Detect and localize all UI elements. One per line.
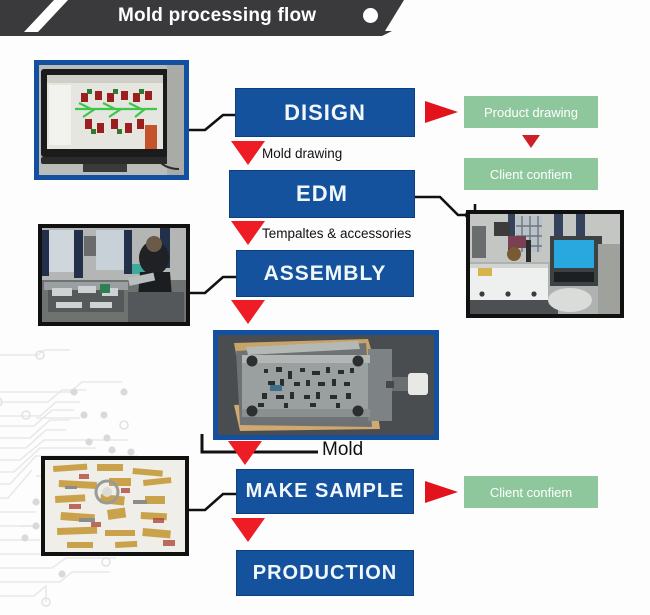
caption-mold-drawing: Mold drawing xyxy=(262,147,342,161)
cad-design-photo xyxy=(34,60,189,180)
sample-parts-photo xyxy=(41,456,189,556)
flow-step-design[interactable]: DISIGN xyxy=(235,88,415,137)
mold-photo xyxy=(213,330,439,440)
header-banner-shadow xyxy=(0,31,392,36)
mold-processing-flow-diagram: Mold processing flow xyxy=(0,0,650,615)
arrow-down-sample-to-production xyxy=(231,518,265,542)
flow-step-label: EDM xyxy=(296,181,348,207)
arrow-down-design-to-edm xyxy=(231,141,265,165)
side-box-label: Product drawing xyxy=(484,105,578,120)
flow-step-assembly[interactable]: ASSEMBLY xyxy=(236,250,414,297)
page-title: Mold processing flow xyxy=(118,2,348,29)
side-box-client-confirm-bottom[interactable]: Client confiem xyxy=(464,476,598,508)
flow-step-production[interactable]: PRODUCTION xyxy=(236,550,414,596)
assembly-photo xyxy=(38,224,190,326)
arrow-right-design-to-product-drawing xyxy=(425,101,458,123)
arrow-right-sample-to-client-confirm xyxy=(425,481,458,503)
arrow-down-mold-to-sample xyxy=(228,441,262,465)
flow-step-edm[interactable]: EDM xyxy=(229,170,415,218)
flow-step-make-sample[interactable]: MAKE SAMPLE xyxy=(236,469,414,514)
flow-step-label: PRODUCTION xyxy=(253,562,397,585)
circle-dot-icon xyxy=(363,8,378,23)
caption-templates-accessories: Tempaltes & accessories xyxy=(262,227,411,241)
arrow-down-edm-to-assembly xyxy=(231,221,265,245)
side-box-client-confirm-top[interactable]: Client confiem xyxy=(464,158,598,190)
flow-step-label: MAKE SAMPLE xyxy=(246,480,405,503)
side-box-product-drawing[interactable]: Product drawing xyxy=(464,96,598,128)
side-box-label: Client confiem xyxy=(490,485,572,500)
arrow-down-assembly-to-mold xyxy=(231,300,265,324)
side-box-label: Client confiem xyxy=(490,167,572,182)
edm-machine-photo xyxy=(466,210,624,318)
arrow-down-product-drawing-to-confirm xyxy=(522,135,540,148)
flow-step-label: ASSEMBLY xyxy=(264,262,387,286)
flow-step-label: DISIGN xyxy=(284,100,366,126)
caption-mold: Mold xyxy=(322,440,363,459)
